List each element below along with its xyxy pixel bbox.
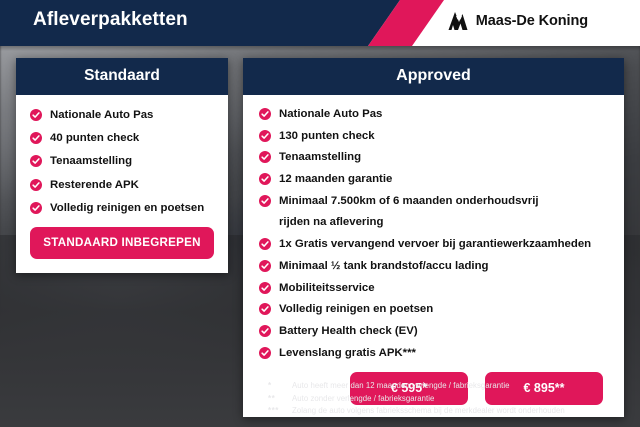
footnote-text: Auto zonder verlengde / fabrieksgarantie	[292, 394, 434, 405]
footnote-marker: **	[268, 394, 292, 405]
footnote-text: Zolang de auto volgens fabrieksschema bi…	[292, 406, 565, 417]
check-circle-icon	[259, 130, 271, 142]
check-circle-icon	[259, 108, 271, 120]
standaard-feature-label: Volledig reinigen en poetsen	[50, 200, 204, 216]
approved-feature-item: Mobiliteitsservice	[259, 280, 610, 296]
footnote-row: **Auto zonder verlengde / fabrieksgarant…	[268, 394, 638, 405]
approved-feature-label: Mobiliteitsservice	[279, 280, 375, 296]
approved-card: Approved Nationale Auto Pas130 punten ch…	[243, 58, 624, 417]
check-circle-icon	[259, 173, 271, 185]
approved-feature-item: Volledig reinigen en poetsen	[259, 301, 610, 317]
standaard-feature-label: Nationale Auto Pas	[50, 107, 153, 123]
check-circle-icon	[259, 151, 271, 163]
standaard-feature-item: Nationale Auto Pas	[30, 107, 214, 123]
approved-feature-label: Volledig reinigen en poetsen	[279, 301, 433, 317]
approved-feature-item: Nationale Auto Pas	[259, 106, 610, 122]
approved-card-body: Nationale Auto Pas130 punten checkTenaam…	[243, 95, 624, 417]
footnote-row: ***Zolang de auto volgens fabrieksschema…	[268, 406, 638, 417]
standaard-card-heading: Standaard	[16, 58, 228, 95]
standaard-feature-label: Tenaamstelling	[50, 153, 132, 169]
approved-feature-label: 130 punten check	[279, 128, 375, 144]
check-circle-icon	[259, 347, 271, 359]
approved-card-heading: Approved	[243, 58, 624, 95]
footnote-marker: ***	[268, 406, 292, 417]
standaard-inbegrepen-button[interactable]: STANDAARD INBEGREPEN	[30, 227, 214, 259]
approved-feature-list: Nationale Auto Pas130 punten checkTenaam…	[259, 106, 610, 361]
check-circle-icon	[259, 195, 271, 207]
check-circle-icon	[30, 202, 42, 214]
approved-feature-item: 130 punten check	[259, 128, 610, 144]
footnote-text: Auto heeft meer dan 12 maanden verlengde…	[292, 381, 510, 392]
check-circle-icon	[30, 132, 42, 144]
approved-feature-item: Levenslang gratis APK***	[259, 345, 610, 361]
approved-feature-item: Tenaamstelling	[259, 149, 610, 165]
check-circle-icon	[259, 325, 271, 337]
check-circle-icon	[259, 238, 271, 250]
approved-feature-label: Minimaal ½ tank brandstof/accu lading	[279, 258, 489, 274]
approved-feature-label: Levenslang gratis APK***	[279, 345, 416, 361]
check-circle-icon	[259, 303, 271, 315]
brand-name: Maas-De Koning	[476, 13, 588, 29]
approved-feature-item: rijden na aflevering	[259, 214, 610, 230]
check-circle-icon	[30, 109, 42, 121]
approved-feature-label: 1x Gratis vervangend vervoer bij garanti…	[279, 236, 591, 252]
approved-feature-label: Nationale Auto Pas	[279, 106, 382, 122]
standaard-feature-label: 40 punten check	[50, 130, 139, 146]
approved-feature-item: 1x Gratis vervangend vervoer bij garanti…	[259, 236, 610, 252]
footnotes-block: *Auto heeft meer dan 12 maanden verlengd…	[268, 381, 638, 419]
approved-feature-label: rijden na aflevering	[279, 214, 383, 230]
standaard-feature-item: Resterende APK	[30, 177, 214, 193]
standaard-feature-item: 40 punten check	[30, 130, 214, 146]
page-header: Afleverpakketten Maas-De Koning	[0, 0, 640, 46]
approved-feature-item: 12 maanden garantie	[259, 171, 610, 187]
standaard-card: Standaard Nationale Auto Pas40 punten ch…	[16, 58, 228, 273]
standaard-card-body: Nationale Auto Pas40 punten checkTenaams…	[16, 95, 228, 273]
approved-feature-label: 12 maanden garantie	[279, 171, 392, 187]
approved-feature-item: Minimaal 7.500km of 6 maanden onderhouds…	[259, 193, 610, 209]
check-circle-icon	[30, 179, 42, 191]
standaard-feature-label: Resterende APK	[50, 177, 139, 193]
approved-feature-item: Minimaal ½ tank brandstof/accu lading	[259, 258, 610, 274]
standaard-feature-list: Nationale Auto Pas40 punten checkTenaams…	[30, 107, 214, 216]
approved-feature-label: Battery Health check (EV)	[279, 323, 418, 339]
standaard-feature-item: Tenaamstelling	[30, 153, 214, 169]
approved-feature-label: Tenaamstelling	[279, 149, 361, 165]
header-shadow	[0, 46, 640, 51]
footnote-marker: *	[268, 381, 292, 392]
page-title: Afleverpakketten	[33, 9, 188, 31]
check-circle-icon	[30, 155, 42, 167]
check-circle-icon	[259, 260, 271, 272]
approved-feature-item: Battery Health check (EV)	[259, 323, 610, 339]
approved-feature-label: Minimaal 7.500km of 6 maanden onderhouds…	[279, 193, 539, 209]
check-circle-icon	[259, 282, 271, 294]
maas-de-koning-m-logo-icon	[447, 11, 469, 31]
brand-logo: Maas-De Koning	[447, 11, 588, 31]
standaard-feature-item: Volledig reinigen en poetsen	[30, 200, 214, 216]
footnote-row: *Auto heeft meer dan 12 maanden verlengd…	[268, 381, 638, 392]
